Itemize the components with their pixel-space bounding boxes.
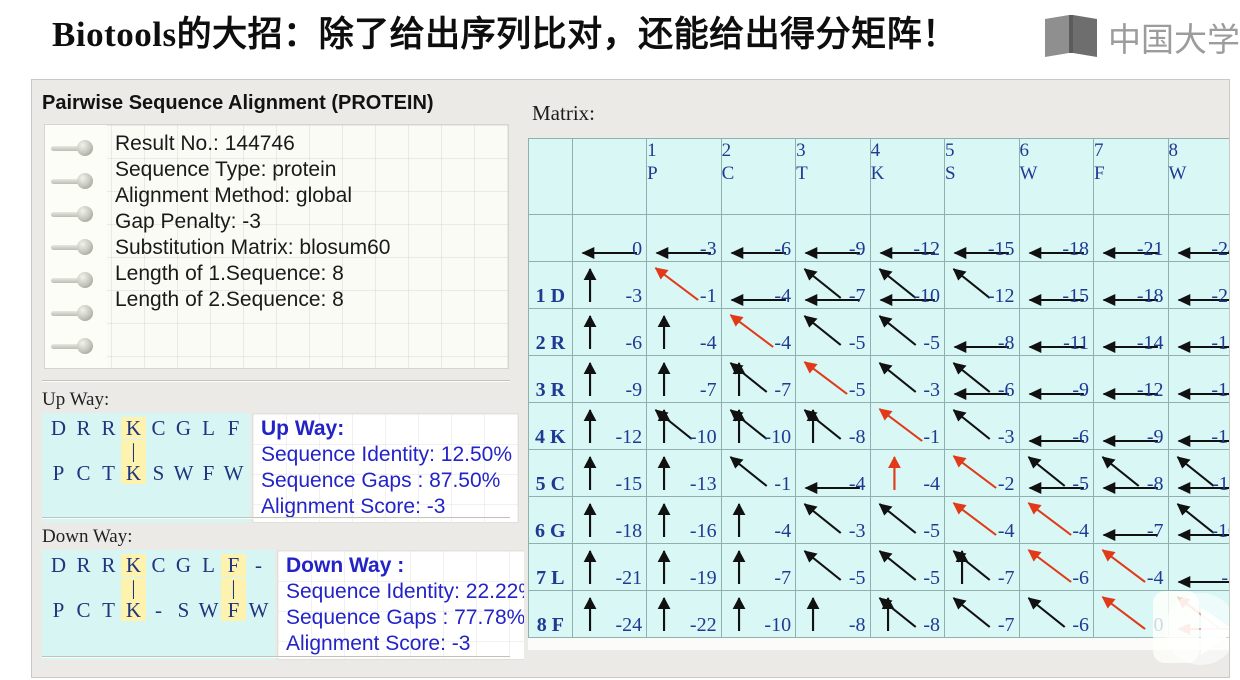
residue-cell: C	[146, 417, 171, 439]
matrix-cell-value: -15	[1062, 286, 1089, 306]
matrix-cell-value: -21	[1211, 286, 1230, 306]
matrix-cell-value: -10	[764, 615, 791, 635]
matrix-row-label: 7 L	[529, 544, 573, 591]
residue-cell: R	[71, 417, 96, 439]
matrix-cell-value: -5	[923, 568, 940, 588]
residue-cell: C	[71, 462, 96, 484]
matrix-cell-value: -24	[1211, 239, 1230, 259]
matrix-cell[interactable]: -4	[647, 309, 721, 356]
info-line-length-seq2: Length of 2.Sequence: 8	[115, 287, 502, 313]
down-way-top-sequence: DRRKCGLF-	[46, 553, 271, 577]
matrix-cell[interactable]: -21	[1168, 262, 1230, 309]
matrix-cell-value: -3	[998, 427, 1015, 447]
matrix-cell[interactable]: -21	[1094, 215, 1168, 262]
residue-cell: F	[196, 462, 221, 484]
matrix-cell[interactable]: -10	[647, 403, 721, 450]
matrix-cell-value: -4	[700, 333, 717, 353]
column-index: 3	[796, 139, 869, 162]
matrix-cell-value: -10	[690, 427, 717, 447]
matrix-cell[interactable]: -7	[945, 544, 1019, 591]
matrix-cell-value: -6	[774, 239, 791, 259]
matrix-row: 3 R -9 -7 -7 -5 -3 -6 -9 -12 -15	[529, 356, 1231, 403]
matrix-cell-value: -12	[615, 427, 642, 447]
column-index: 8	[1169, 139, 1231, 162]
matrix-row: 2 R -6 -4 -4 -5 -5 -8 -11 -14 -17	[529, 309, 1231, 356]
ring-icon	[49, 205, 107, 223]
matrix-cell[interactable]: -9	[796, 215, 870, 262]
matrix-cell[interactable]: -8	[796, 591, 870, 638]
matrix-cell-value: -15	[615, 474, 642, 494]
matrix-cell[interactable]: 0	[572, 215, 646, 262]
matrix-cell[interactable]: -4	[1094, 544, 1168, 591]
matrix-cell[interactable]: -1	[647, 262, 721, 309]
matrix-cell-value: -8	[849, 427, 866, 447]
matrix-cell[interactable]: -19	[647, 544, 721, 591]
column-index: 5	[945, 139, 1018, 162]
residue-cell: F	[221, 554, 246, 576]
page-title: Biotools的大招：除了给出序列比对，还能给出得分矩阵！	[52, 6, 958, 57]
up-way-bottom-sequence: PCTKSWFW	[46, 461, 246, 485]
matrix-cell-value: -7	[998, 615, 1015, 635]
matrix-cell-value: -14	[1137, 333, 1164, 353]
matrix-gap-header-cell	[572, 139, 646, 215]
left-pane: Pairwise Sequence Alignment (PROTEIN) Re…	[32, 80, 524, 677]
matrix-cell-value: -12	[988, 286, 1015, 306]
residue-cell: -	[146, 599, 171, 621]
info-line-gap-penalty: Gap Penalty: -3	[115, 209, 502, 235]
matrix-cell-value: -1	[774, 474, 791, 494]
matrix-cell[interactable]: -12	[1094, 356, 1168, 403]
matrix-cell-value: 0	[1154, 615, 1164, 635]
matrix-cell[interactable]: -24	[1168, 215, 1230, 262]
matrix-header-row: 1P2C3T4K5S6W7F8W	[529, 139, 1231, 215]
matrix-cell-value: -3	[700, 239, 717, 259]
matrix-cell[interactable]: -21	[572, 544, 646, 591]
down-way-match-line: ||	[46, 577, 271, 598]
dp-matrix-table: 1P2C3T4K5S6W7F8W 0 -3 -6 -9 -12 -15 -18 …	[528, 138, 1230, 638]
matrix-cell[interactable]: -18	[572, 497, 646, 544]
matrix-cell[interactable]: -6	[572, 309, 646, 356]
matrix-cell-value: -5	[1072, 474, 1089, 494]
matrix-cell[interactable]: -15	[1019, 262, 1093, 309]
matrix-cell[interactable]: -4	[721, 497, 795, 544]
matrix-cell[interactable]: -5	[796, 544, 870, 591]
matrix-column-header: 1P	[647, 139, 721, 215]
up-way-stats: Up Way: Sequence Identity: 12.50% Sequen…	[252, 413, 519, 523]
result-info-box: Result No.: 144746 Sequence Type: protei…	[44, 124, 509, 369]
matrix-column-header: 3T	[796, 139, 870, 215]
matrix-row-label: 4 K	[529, 403, 573, 450]
residue-cell: -	[246, 554, 271, 576]
matrix-cell-value: -7	[774, 380, 791, 400]
down-way-score: Alignment Score: -3	[286, 631, 537, 657]
matrix-cell[interactable]: -6	[1019, 591, 1093, 638]
matrix-cell[interactable]: -5	[870, 544, 944, 591]
matrix-label: Matrix:	[532, 101, 595, 126]
up-way-top-sequence: DRRKCGLF	[46, 416, 246, 440]
matrix-cell-value: -21	[1137, 239, 1164, 259]
matrix-cell[interactable]: -4	[796, 450, 870, 497]
residue-cell: S	[146, 462, 171, 484]
residue-cell: K	[121, 417, 146, 439]
residue-cell: D	[46, 417, 71, 439]
matrix-cell-value: -12	[1211, 427, 1230, 447]
matrix-row-label: 6 G	[529, 497, 573, 544]
matrix-row: 4 K -12 -10 -10 -8 -1 -3 -6 -9 -12	[529, 403, 1231, 450]
match-marker: |	[121, 440, 146, 462]
matrix-cell-value: -4	[774, 333, 791, 353]
matrix-cell-value: -10	[764, 427, 791, 447]
matrix-cell[interactable]: -4	[1019, 497, 1093, 544]
residue-cell: R	[96, 554, 121, 576]
matrix-cell[interactable]: 0	[1094, 591, 1168, 638]
matrix-cell[interactable]: -3	[945, 403, 1019, 450]
ring-icon	[49, 139, 107, 157]
matrix-cell[interactable]: -12	[1168, 403, 1230, 450]
matrix-cell[interactable]: -9	[572, 356, 646, 403]
matrix-cell-value: 0	[632, 239, 642, 259]
matrix-cell-value: -9	[849, 239, 866, 259]
residue-cell: W	[221, 462, 246, 484]
up-way-gaps: Sequence Gaps : 87.50%	[261, 468, 512, 494]
matrix-cell-value: -6	[1072, 615, 1089, 635]
match-marker: |	[121, 577, 146, 599]
info-line-alignment-method: Alignment Method: global	[115, 183, 502, 209]
down-way-stats-header: Down Way :	[286, 553, 537, 579]
up-way-match-line: |	[46, 440, 246, 461]
matrix-cell[interactable]: -5	[796, 356, 870, 403]
matrix-cell-value: -13	[690, 474, 717, 494]
column-index: 1	[647, 139, 720, 162]
up-way-stats-header: Up Way:	[261, 416, 512, 442]
matrix-cell-value: -9	[1072, 380, 1089, 400]
info-line-substitution-matrix: Substitution Matrix: blosum60	[115, 235, 502, 261]
matrix-scroll-area[interactable]: 1P2C3T4K5S6W7F8W 0 -3 -6 -9 -12 -15 -18 …	[528, 138, 1230, 650]
residue-cell: G	[171, 554, 196, 576]
matrix-cell[interactable]: -9	[1094, 403, 1168, 450]
residue-cell: P	[46, 599, 71, 621]
info-line-result-no: Result No.: 144746	[115, 131, 502, 157]
matrix-cell[interactable]: -7	[945, 591, 1019, 638]
down-way-alignment: DRRKCGLF- || PCTK-SWFW	[42, 550, 275, 660]
residue-cell: S	[171, 599, 196, 621]
matrix-cell[interactable]: -7	[1168, 544, 1230, 591]
matrix-cell[interactable]: -7	[721, 544, 795, 591]
matrix-cell[interactable]: -18	[1019, 215, 1093, 262]
divider	[42, 517, 510, 519]
result-info-lines: Result No.: 144746 Sequence Type: protei…	[115, 131, 502, 313]
matrix-cell[interactable]: -15	[1168, 356, 1230, 403]
matrix-cell[interactable]: -4	[945, 497, 1019, 544]
matrix-cell[interactable]: -8	[796, 403, 870, 450]
column-index: 4	[871, 139, 944, 162]
matrix-column-header: 2C	[721, 139, 795, 215]
matrix-cell-value: -7	[1147, 521, 1164, 541]
matrix-cell[interactable]: -5	[796, 309, 870, 356]
matrix-row-label: 3 R	[529, 356, 573, 403]
matrix-cell[interactable]: -10	[721, 403, 795, 450]
matrix-cell[interactable]: -7	[796, 262, 870, 309]
residue-cell: W	[171, 462, 196, 484]
down-way-identity: Sequence Identity: 22.22%	[286, 579, 537, 605]
matrix-cell[interactable]: -1	[870, 403, 944, 450]
matrix-cell[interactable]: -11	[1168, 450, 1230, 497]
up-way-caption: Up Way:	[42, 389, 512, 411]
residue-cell: L	[196, 417, 221, 439]
matrix-cell-value: -4	[923, 474, 940, 494]
matrix-cell-value: -3	[923, 380, 940, 400]
matrix-cell-value: -11	[1212, 474, 1230, 494]
ring-icon	[49, 271, 107, 289]
down-way-caption: Down Way:	[42, 526, 512, 548]
matrix-cell-value: -2	[998, 474, 1015, 494]
matrix-cell[interactable]: -3	[796, 497, 870, 544]
matrix-cell-value: -6	[625, 333, 642, 353]
matrix-cell[interactable]: -12	[945, 262, 1019, 309]
matrix-cell[interactable]: -4	[721, 309, 795, 356]
matrix-cell-value: -5	[849, 333, 866, 353]
matrix-cell[interactable]: -10	[1168, 497, 1230, 544]
matrix-row: 0 -3 -6 -9 -12 -15 -18 -21 -24	[529, 215, 1231, 262]
book-logo-icon	[1043, 13, 1101, 61]
matrix-cell-value: -3	[849, 521, 866, 541]
brand-text: 中国大学	[1108, 13, 1240, 61]
matrix-cell-value: -8	[923, 615, 940, 635]
ring-icon	[49, 172, 107, 190]
matrix-cell-value: -18	[1137, 286, 1164, 306]
info-line-sequence-type: Sequence Type: protein	[115, 157, 502, 183]
matrix-cell-value: -5	[849, 380, 866, 400]
column-residue: T	[796, 162, 869, 185]
matrix-row-label: 5 C	[529, 450, 573, 497]
residue-cell: K	[121, 462, 146, 484]
matrix-cell[interactable]: -5	[870, 309, 944, 356]
up-way-block: Up Way: DRRKCGLF | PCTKSWFW Up Way: Sequ…	[42, 389, 512, 523]
matrix-pane: Matrix: 1P2C3T4K5S6W7F8W 0 -3 -6 -9 -12 …	[524, 80, 1230, 677]
matrix-cell[interactable]: -10	[870, 262, 944, 309]
matrix-cell-value: -7	[774, 568, 791, 588]
divider	[42, 380, 510, 382]
matrix-cell-value: -8	[998, 333, 1015, 353]
matrix-cell-value: -7	[1221, 568, 1230, 588]
matrix-cell-value: -22	[690, 615, 717, 635]
residue-cell: C	[71, 599, 96, 621]
column-residue: P	[647, 162, 720, 185]
matrix-cell[interactable]: -22	[647, 591, 721, 638]
ring-icon	[49, 238, 107, 256]
matrix-cell-value: -12	[1137, 380, 1164, 400]
matrix-cell-value: -16	[690, 521, 717, 541]
matrix-column-header: 5S	[945, 139, 1019, 215]
matrix-cell[interactable]: -13	[647, 450, 721, 497]
column-residue: W	[1020, 162, 1093, 185]
matrix-cell-value: -8	[1147, 474, 1164, 494]
matrix-cell-value: -8	[849, 615, 866, 635]
matrix-cell[interactable]: -6	[1019, 403, 1093, 450]
matrix-cell[interactable]: -6	[721, 215, 795, 262]
matrix-cell[interactable]: -6	[1019, 544, 1093, 591]
matrix-cell-value: -5	[923, 333, 940, 353]
down-way-stats: Down Way : Sequence Identity: 22.22% Seq…	[277, 550, 544, 660]
matrix-cell-value: -3	[625, 286, 642, 306]
matrix-cell[interactable]: -12	[870, 215, 944, 262]
matrix-cell-value: -3	[1221, 615, 1230, 635]
column-residue: K	[871, 162, 944, 185]
matrix-cell[interactable]: -4	[870, 450, 944, 497]
matrix-cell-value: -7	[849, 286, 866, 306]
matrix-cell[interactable]: -5	[1019, 450, 1093, 497]
matrix-cell-value: -1	[700, 286, 717, 306]
matrix-cell-value: -15	[988, 239, 1015, 259]
up-way-alignment: DRRKCGLF | PCTKSWFW	[42, 413, 250, 523]
matrix-cell[interactable]: -7	[647, 356, 721, 403]
matrix-cell-value: -17	[1211, 333, 1230, 353]
matrix-cell[interactable]: -6	[945, 356, 1019, 403]
matrix-cell-value: -10	[1211, 521, 1230, 541]
matrix-cell-value: -7	[998, 568, 1015, 588]
matrix-row: 8 F -24 -22 -10 -8 -8 -7 -6 0 -3	[529, 591, 1231, 638]
matrix-cell-value: -24	[615, 615, 642, 635]
matrix-cell[interactable]: -2	[945, 450, 1019, 497]
matrix-cell-value: -19	[690, 568, 717, 588]
residue-cell: K	[121, 554, 146, 576]
matrix-cell-value: -11	[1063, 333, 1089, 353]
matrix-cell[interactable]: -9	[1019, 356, 1093, 403]
residue-cell: L	[196, 554, 221, 576]
matrix-cell-value: -6	[998, 380, 1015, 400]
matrix-cell[interactable]: -1	[721, 450, 795, 497]
matrix-cell[interactable]: -3	[572, 262, 646, 309]
matrix-cell[interactable]: -8	[945, 309, 1019, 356]
matrix-cell[interactable]: -10	[721, 591, 795, 638]
matrix-row: 7 L -21 -19 -7 -5 -5 -7 -6 -4 -7	[529, 544, 1231, 591]
matrix-cell[interactable]: -11	[1019, 309, 1093, 356]
down-way-gaps: Sequence Gaps : 77.78%	[286, 605, 537, 631]
matrix-cell-value: -4	[774, 286, 791, 306]
matrix-cell-value: -4	[998, 521, 1015, 541]
column-residue: S	[945, 162, 1018, 185]
matrix-cell-value: -4	[774, 521, 791, 541]
down-way-bottom-sequence: PCTK-SWFW	[46, 598, 271, 622]
matrix-cell[interactable]: -12	[572, 403, 646, 450]
matrix-cell[interactable]: -15	[572, 450, 646, 497]
residue-cell: C	[146, 554, 171, 576]
matrix-cell[interactable]: -3	[1168, 591, 1230, 638]
matrix-cell-value: -4	[1147, 568, 1164, 588]
slide-header: Biotools的大招：除了给出序列比对，还能给出得分矩阵！ 中国大学	[0, 0, 1240, 78]
matrix-cell[interactable]: -8	[1094, 450, 1168, 497]
divider	[42, 656, 510, 658]
matrix-cell[interactable]: -18	[1094, 262, 1168, 309]
residue-cell: F	[221, 417, 246, 439]
residue-cell: T	[96, 599, 121, 621]
matrix-column-header: 4K	[870, 139, 944, 215]
matrix-cell-value: -9	[1147, 427, 1164, 447]
residue-cell: W	[246, 599, 271, 621]
matrix-corner-cell	[529, 139, 573, 215]
matrix-cell-value: -18	[1062, 239, 1089, 259]
notebook-rings	[45, 125, 107, 368]
matrix-row: 5 C -15 -13 -1 -4 -4 -2 -5 -8 -11	[529, 450, 1231, 497]
column-residue: C	[722, 162, 795, 185]
matrix-row-label: 2 R	[529, 309, 573, 356]
matrix-cell-value: -7	[700, 380, 717, 400]
column-index: 7	[1094, 139, 1167, 162]
matrix-cell[interactable]: -15	[945, 215, 1019, 262]
residue-cell: W	[196, 599, 221, 621]
matrix-cell-value: -6	[1072, 427, 1089, 447]
matrix-cell[interactable]: -4	[721, 262, 795, 309]
matrix-cell[interactable]: -24	[572, 591, 646, 638]
matrix-cell-value: -5	[923, 521, 940, 541]
column-residue: F	[1094, 162, 1167, 185]
app-window: Pairwise Sequence Alignment (PROTEIN) Re…	[31, 79, 1230, 678]
match-marker: |	[221, 577, 246, 599]
matrix-cell-value: -5	[849, 568, 866, 588]
matrix-cell-value: -1	[923, 427, 940, 447]
matrix-cell-value: -9	[625, 380, 642, 400]
matrix-cell-value: -4	[1072, 521, 1089, 541]
ring-icon	[49, 304, 107, 322]
matrix-cell[interactable]: -14	[1094, 309, 1168, 356]
matrix-cell[interactable]: -7	[1094, 497, 1168, 544]
column-residue: W	[1169, 162, 1231, 185]
matrix-cell[interactable]: -3	[870, 356, 944, 403]
residue-cell: F	[221, 599, 246, 621]
matrix-column-header: 8W	[1168, 139, 1230, 215]
matrix-row-label: 8 F	[529, 591, 573, 638]
residue-cell: K	[121, 599, 146, 621]
column-index: 2	[722, 139, 795, 162]
matrix-row: 6 G -18 -16 -4 -3 -5 -4 -4 -7 -10	[529, 497, 1231, 544]
panel-title: Pairwise Sequence Alignment (PROTEIN)	[42, 92, 434, 115]
matrix-cell-value: -6	[1072, 568, 1089, 588]
residue-cell: G	[171, 417, 196, 439]
residue-cell: R	[71, 554, 96, 576]
up-way-identity: Sequence Identity: 12.50%	[261, 442, 512, 468]
residue-cell: D	[46, 554, 71, 576]
matrix-row-label: 1 D	[529, 262, 573, 309]
matrix-cell-value: -18	[615, 521, 642, 541]
matrix-row: 1 D -3 -1 -4 -7 -10 -12 -15 -18 -21	[529, 262, 1231, 309]
brand-logo: 中国大学	[1043, 10, 1240, 64]
residue-cell: T	[96, 462, 121, 484]
matrix-cell[interactable]: -8	[870, 591, 944, 638]
column-index: 6	[1020, 139, 1093, 162]
matrix-cell[interactable]: -16	[647, 497, 721, 544]
residue-cell: R	[96, 417, 121, 439]
matrix-cell[interactable]: -17	[1168, 309, 1230, 356]
matrix-column-header: 7F	[1094, 139, 1168, 215]
residue-cell: P	[46, 462, 71, 484]
matrix-cell-value: -10	[913, 286, 940, 306]
matrix-cell-value: -12	[913, 239, 940, 259]
matrix-cell-value: -15	[1211, 380, 1230, 400]
ring-icon	[49, 337, 107, 355]
matrix-cell-value: -4	[849, 474, 866, 494]
matrix-cell[interactable]: -5	[870, 497, 944, 544]
down-way-block: Down Way: DRRKCGLF- || PCTK-SWFW Down Wa…	[42, 526, 512, 660]
info-line-length-seq1: Length of 1.Sequence: 8	[115, 261, 502, 287]
matrix-cell[interactable]: -7	[721, 356, 795, 403]
matrix-column-header: 6W	[1019, 139, 1093, 215]
matrix-row-label	[529, 215, 573, 262]
matrix-cell-value: -21	[615, 568, 642, 588]
matrix-cell[interactable]: -3	[647, 215, 721, 262]
